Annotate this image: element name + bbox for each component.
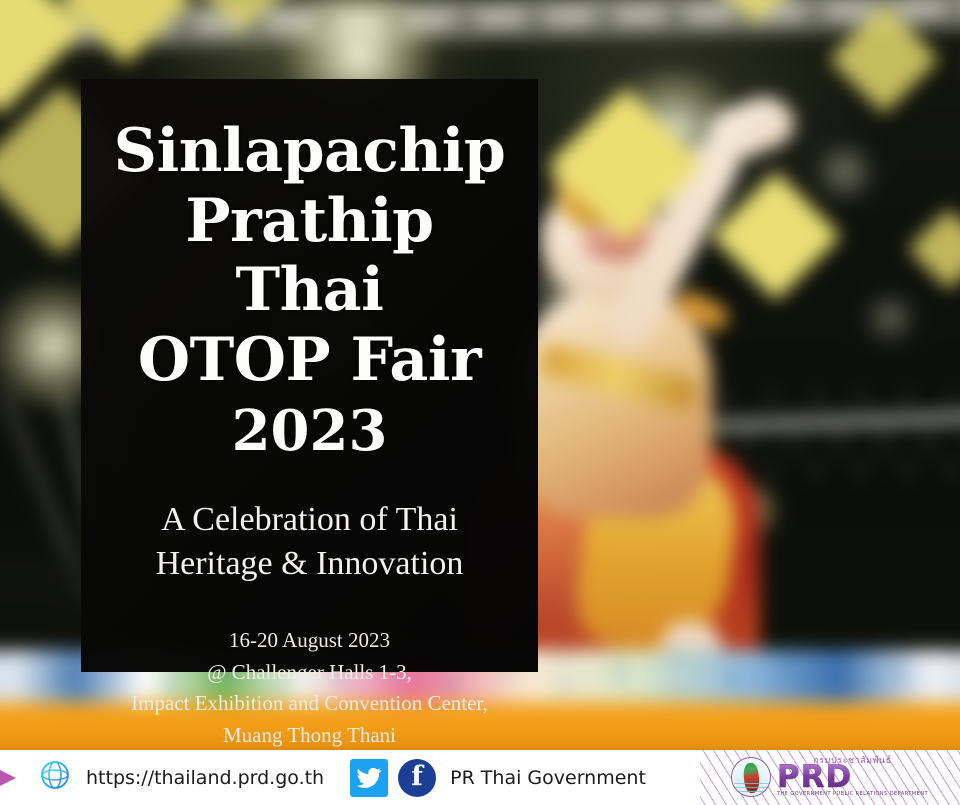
social-account-name: PR Thai Government <box>450 767 646 789</box>
prd-thai-name: กรมประชาสัมพันธ์ <box>777 757 928 766</box>
event-subtitle-line: Heritage & Innovation <box>107 542 512 586</box>
prd-english-name: THE GOVERNMENT PUBLIC RELATIONS DEPARTME… <box>777 792 928 797</box>
facebook-glyph: f <box>411 763 423 790</box>
event-details: 16-20 August 2023 @ Challenger Halls 1-3… <box>107 625 512 751</box>
arrow-accent-icon <box>0 750 34 805</box>
prd-logo[interactable]: กรมประชาสัมพันธ์ PRD THE GOVERNMENT PUBL… <box>731 757 928 797</box>
event-title-line: Sinlapachip <box>107 117 512 187</box>
thailand-map-emblem-icon <box>731 757 771 797</box>
social-links[interactable]: f PR Thai Government <box>350 759 646 797</box>
event-date: 16-20 August 2023 <box>107 625 512 657</box>
event-venue-hall: @ Challenger Halls 1-3, <box>107 657 512 689</box>
event-year: 2023 <box>107 399 512 464</box>
event-venue-city: Muang Thong Thani <box>107 720 512 752</box>
event-subtitle: A Celebration of Thai Heritage & Innovat… <box>107 498 512 585</box>
event-subtitle-line: A Celebration of Thai <box>107 498 512 542</box>
facebook-icon[interactable]: f <box>398 759 436 797</box>
event-title-line: Prathip Thai <box>107 187 512 326</box>
prd-acronym: PRD <box>777 762 928 793</box>
stage-light-glow <box>860 290 920 346</box>
water-wave-lines <box>734 782 770 792</box>
footer-bar: https://thailand.prd.go.th f PR Thai Gov… <box>0 750 960 805</box>
prd-logo-text: กรมประชาสัมพันธ์ PRD THE GOVERNMENT PUBL… <box>777 757 928 797</box>
twitter-icon[interactable] <box>350 759 388 797</box>
event-title: Sinlapachip Prathip Thai OTOP Fair <box>107 117 512 395</box>
event-venue-center: Impact Exhibition and Convention Center, <box>107 688 512 720</box>
poster-canvas: Sinlapachip Prathip Thai OTOP Fair 2023 … <box>0 0 960 805</box>
website-link[interactable]: https://thailand.prd.go.th <box>38 758 324 797</box>
title-panel: Sinlapachip Prathip Thai OTOP Fair 2023 … <box>81 79 538 672</box>
event-title-line: OTOP Fair <box>107 326 512 396</box>
globe-icon <box>38 758 72 797</box>
website-url: https://thailand.prd.go.th <box>86 767 324 789</box>
